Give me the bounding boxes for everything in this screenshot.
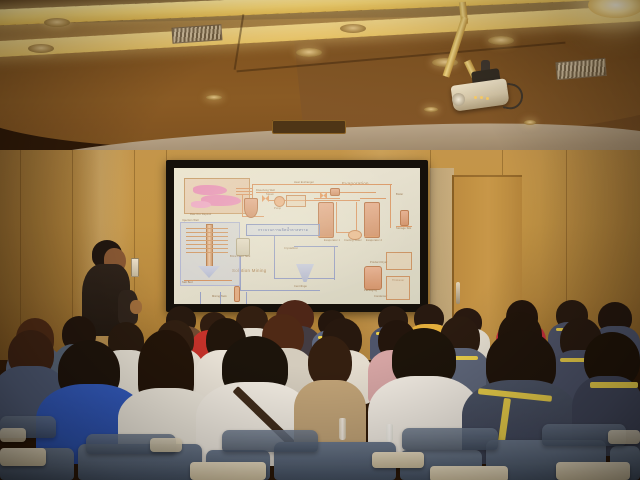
slide-label: Evaporator 1 <box>324 240 340 243</box>
slide-steam-header <box>330 188 340 196</box>
recessed-downlight <box>296 48 322 57</box>
slide-pump-icon <box>274 196 285 207</box>
slide-label: Raw Ore Deposit <box>190 214 211 217</box>
slide-label: Product Dryer <box>370 262 387 265</box>
slide-pipe <box>356 202 357 232</box>
water-bottle <box>339 418 346 440</box>
slide-label: Mixing Tank <box>212 296 227 299</box>
slide-tray <box>186 248 228 249</box>
recessed-downlight <box>524 120 536 125</box>
slide-pipe <box>336 202 337 232</box>
slide-pipe <box>364 236 378 237</box>
slide-equipment-box <box>386 276 410 300</box>
recessed-downlight <box>340 24 366 33</box>
slide-pipe-blue <box>246 292 247 304</box>
folding-tablet-arm[interactable] <box>0 448 46 466</box>
slide-label: Packaging <box>364 290 377 293</box>
folding-tablet-arm[interactable] <box>608 430 640 444</box>
slide-equipment-box <box>386 252 412 270</box>
slide-label: Steam <box>266 194 274 197</box>
slide-label: Evaporator 2 <box>366 240 382 243</box>
recessed-downlight <box>206 95 222 100</box>
projection-screen: Evaporation Solution Mining Raw Ore Depo… <box>166 160 428 312</box>
slide-label: Cooling Tower <box>344 240 362 243</box>
folding-tablet-arm[interactable] <box>372 452 424 468</box>
presenter-hand <box>130 300 142 314</box>
water-bottle <box>386 424 393 442</box>
slide-label: Centrifuge <box>294 286 307 289</box>
folding-tablet-arm[interactable] <box>190 462 266 480</box>
slide-mixer-shaft <box>234 286 240 302</box>
auditorium-seat-back[interactable] <box>222 430 318 452</box>
slide-well-column <box>206 224 213 268</box>
slide-pipe-blue <box>294 246 338 247</box>
slide-pipe <box>252 184 392 185</box>
slide-pipe <box>390 184 391 228</box>
slide-tray <box>186 244 228 245</box>
slide-tray <box>186 240 228 241</box>
folding-tablet-arm[interactable] <box>0 428 26 442</box>
slide-label: Injection Well <box>182 220 199 223</box>
wall-vent-slot <box>272 120 346 134</box>
slide-label: Salt Bed <box>182 282 193 285</box>
slide-pipe-blue <box>200 292 201 304</box>
projector-led <box>486 97 489 100</box>
slide-dryer <box>364 266 382 290</box>
projector-led <box>474 96 477 99</box>
slide-pipe <box>236 194 252 195</box>
folding-tablet-arm[interactable] <box>430 466 508 480</box>
slide-pipe <box>314 198 340 199</box>
auditorium-seat-back[interactable] <box>402 428 498 450</box>
slide-label: Storage Silo <box>396 228 411 231</box>
projection-screen-surface: Evaporation Solution Mining Raw Ore Depo… <box>174 168 420 304</box>
slide-vessel-reactor <box>244 198 258 218</box>
slide-label: Crystallizer <box>284 248 298 251</box>
recessed-downlight <box>28 44 54 53</box>
slide-title-text: กระบวนการผลิตน้ำตาลทราย <box>258 227 308 233</box>
slide-map-inset <box>184 178 250 214</box>
slide-pipe <box>236 191 252 192</box>
slide-silo <box>400 210 409 226</box>
projector-led <box>480 96 483 99</box>
slide-title-box: กระบวนการผลิตน้ำตาลทราย <box>246 224 320 236</box>
slide-label: Boiler <box>396 194 403 197</box>
recessed-downlight <box>44 18 70 27</box>
slide-tray <box>186 232 228 233</box>
folding-tablet-arm[interactable] <box>150 438 182 452</box>
slide-tray <box>186 252 228 253</box>
door-handle[interactable] <box>456 282 460 304</box>
slide-pipe-blue <box>240 290 320 291</box>
slide-pipe-blue <box>274 236 275 278</box>
recessed-downlight <box>488 36 514 45</box>
slide-tray <box>186 236 228 237</box>
slide-evaporator-1 <box>318 202 334 238</box>
lecture-hall-photo: Evaporation Solution Mining Raw Ore Depo… <box>0 0 640 480</box>
slide-label: Pump <box>274 208 281 211</box>
slide-label: Heat Exchanger <box>294 182 314 185</box>
slide-hopper <box>296 264 314 282</box>
slide-tray <box>186 228 228 229</box>
slide-pipe <box>236 188 252 189</box>
light-switch-plate[interactable] <box>131 258 139 277</box>
slide-pipe <box>360 198 386 199</box>
folding-tablet-arm[interactable] <box>556 462 630 480</box>
slide-evaporator-2 <box>364 202 380 238</box>
recessed-downlight <box>424 107 438 112</box>
slide-tank <box>236 238 250 256</box>
slide-label: Brine Feed Tank <box>230 256 250 259</box>
slide-pipe-blue <box>334 246 335 280</box>
slide-equipment-box <box>286 195 306 207</box>
slide-pipe <box>318 236 332 237</box>
